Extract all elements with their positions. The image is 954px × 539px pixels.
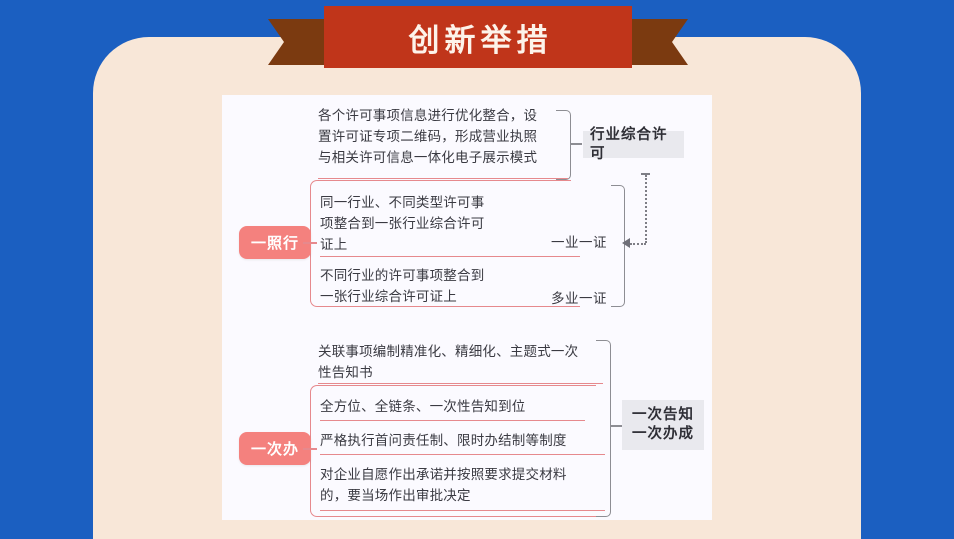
row-text-4: 关联事项编制精准化、精细化、主题式一次 性告知书 <box>318 341 593 383</box>
dotted-arrow-icon <box>622 238 630 248</box>
rule-2 <box>320 256 580 257</box>
rule-6 <box>320 454 605 455</box>
badge-yiciban[interactable]: 一次办 <box>239 432 311 465</box>
row-text-1: 各个许可事项信息进行优化整合，设 置许可证专项二维码，形成营业执照 与相关许可信… <box>318 105 568 168</box>
ribbon-center: 创新举措 <box>324 6 632 68</box>
row-text-7: 对企业自愿作出承诺并按照要求提交材料 的，要当场作出审批决定 <box>320 464 600 506</box>
row-tag-2: 一业一证 <box>551 231 607 251</box>
slide-canvas: 各个许可事项信息进行优化整合，设 置许可证专项二维码，形成营业执照 与相关许可信… <box>0 0 954 539</box>
dotted-vertical <box>645 175 647 243</box>
row-text-2: 同一行业、不同类型许可事 项整合到一张行业综合许可 证上 <box>320 192 550 255</box>
page-title: 创新举措 <box>404 15 553 60</box>
chip-line-1: 一次告知 <box>632 406 694 425</box>
row-text-6: 严格执行首问责任制、限时办结制等制度 <box>320 430 610 451</box>
badge-connector-bottom <box>303 448 317 450</box>
rule-7 <box>320 510 605 511</box>
badge-yizhaoxing[interactable]: 一照行 <box>239 226 311 259</box>
chip-line-2: 一次办成 <box>632 425 694 444</box>
title-ribbon: 创新举措 <box>268 6 688 68</box>
bracket-stub-bottom <box>610 425 622 427</box>
chip-industry-license: 行业综合许可 <box>583 131 684 158</box>
rule-5 <box>320 420 585 421</box>
row-text-5: 全方位、全链条、一次性告知到位 <box>320 396 610 417</box>
row-tag-3: 多业一证 <box>551 287 607 307</box>
dotted-horizontal <box>630 243 646 245</box>
row-text-3: 不同行业的许可事项整合到 一张行业综合许可证上 <box>320 265 550 307</box>
badge-connector-top <box>303 242 317 244</box>
bracket-top-1 <box>556 110 571 180</box>
chip-one-time-notice: 一次告知 一次办成 <box>622 400 704 450</box>
bracket-stub-top-1 <box>570 143 582 145</box>
bracket-bottom <box>596 340 611 517</box>
chip-line: 行业综合许可 <box>590 126 677 164</box>
rule-3 <box>320 306 580 307</box>
